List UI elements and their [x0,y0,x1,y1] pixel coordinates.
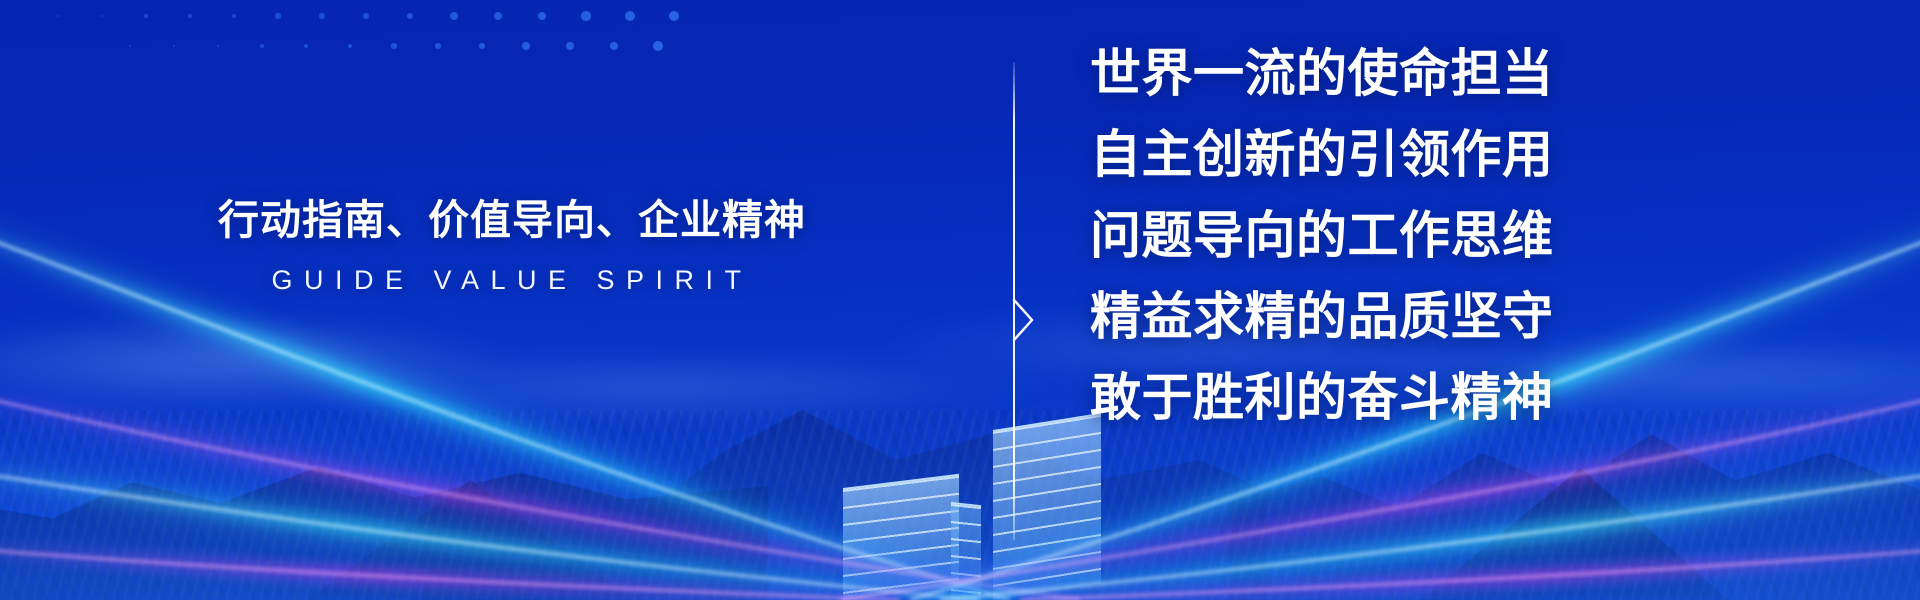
dot [610,42,619,51]
building-left [843,474,959,600]
dot [144,14,147,17]
building-middle [951,502,981,600]
peak-left [307,480,633,600]
dot [669,11,680,22]
left-title: 行动指南、价值导向、企业精神 [192,196,832,244]
dot [391,43,397,49]
dot [232,14,236,18]
center-divider [1004,62,1030,540]
left-text-block: 行动指南、价值导向、企业精神 GUIDE VALUE SPIRIT [192,196,832,296]
right-line: 敢于胜利的奋斗精神 [1090,372,1610,423]
right-line: 自主创新的引领作用 [1090,129,1610,180]
dot [479,43,486,50]
dot [217,45,220,48]
dot [129,45,131,47]
dot [57,15,59,17]
dot [581,11,590,20]
right-line: 精益求精的品质坚守 [1090,291,1610,342]
city-buildings-silhouette [843,420,1103,600]
dot [625,11,635,21]
dot [275,13,280,18]
chevron-right-icon [1012,298,1034,342]
dot [538,12,547,21]
dot [407,13,414,20]
culture-banner: 行动指南、价值导向、企业精神 GUIDE VALUE SPIRIT 世界一流的使… [0,0,1920,600]
dot [319,13,325,19]
dot [260,44,264,48]
left-subtitle: GUIDE VALUE SPIRIT [192,265,832,296]
right-line: 问题导向的工作思维 [1090,210,1610,261]
dot [348,44,353,49]
dot [363,13,369,19]
peak-right [1421,468,1728,600]
dot [653,41,663,51]
dot [304,44,308,48]
dot [101,15,104,18]
dot [450,12,458,20]
right-text-block: 世界一流的使命担当自主创新的引领作用问题导向的工作思维精益求精的品质坚守敢于胜利… [1090,48,1610,423]
dot [566,42,574,50]
dot [435,43,441,49]
dot [173,45,175,47]
dot [522,42,530,50]
right-line: 世界一流的使命担当 [1090,48,1610,99]
dot [188,14,192,18]
dot [494,12,502,20]
ridge-left [0,410,768,600]
dot-matrix-decoration [0,0,700,70]
